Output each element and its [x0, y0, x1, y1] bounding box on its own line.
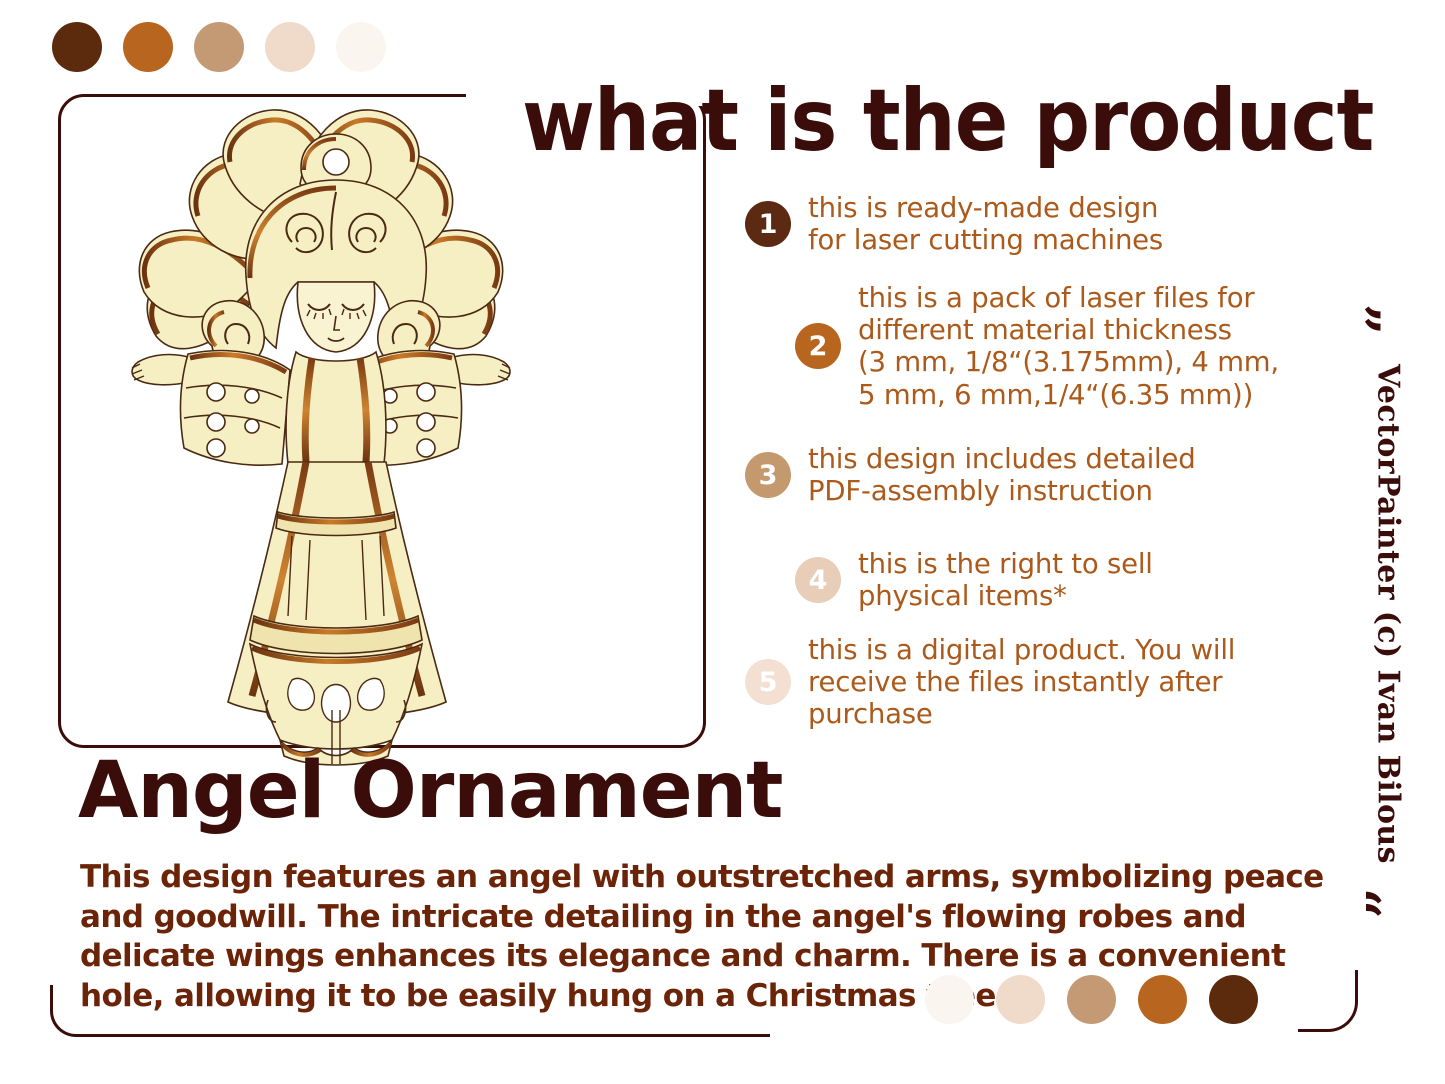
- swatch-top-1: [52, 22, 102, 72]
- feature-text-1: this is ready-made design for laser cutt…: [808, 192, 1163, 256]
- swatch-bottom-1: [925, 975, 974, 1024]
- swatch-bottom-3: [1067, 975, 1116, 1024]
- feature-item-5: 5 this is a digital product. You will re…: [745, 634, 1235, 731]
- feature-item-4: 4 this is the right to sell physical ite…: [795, 548, 1153, 612]
- outer-frame-bottom-left: [50, 985, 770, 1037]
- swatch-bottom-5: [1209, 975, 1258, 1024]
- swatch-bottom-2: [996, 975, 1045, 1024]
- feature-badge-5: 5: [745, 659, 791, 705]
- color-palette-top: [52, 22, 386, 72]
- feature-badge-1: 1: [745, 201, 791, 247]
- feature-text-4: this is the right to sell physical items…: [858, 548, 1153, 612]
- feature-text-2: this is a pack of laser files for differ…: [858, 282, 1279, 411]
- feature-badge-3: 3: [745, 452, 791, 498]
- feature-item-2: 2 this is a pack of laser files for diff…: [795, 282, 1279, 411]
- credit-text: VectorPainter (c) Ivan Bilous: [1371, 364, 1406, 864]
- feature-badge-4: 4: [795, 557, 841, 603]
- swatch-top-3: [194, 22, 244, 72]
- feature-badge-2: 2: [795, 323, 841, 369]
- swatch-bottom-4: [1138, 975, 1187, 1024]
- infographic-page: what is the product 1 this is ready-made…: [0, 0, 1445, 1084]
- swatch-top-4: [265, 22, 315, 72]
- feature-item-3: 3 this design includes detailed PDF-asse…: [745, 443, 1195, 507]
- color-palette-bottom: [925, 975, 1258, 1024]
- swatch-top-5: [336, 22, 386, 72]
- feature-item-1: 1 this is ready-made design for laser cu…: [745, 192, 1163, 256]
- feature-text-5: this is a digital product. You will rece…: [808, 634, 1235, 731]
- outer-frame-bottom-right: [1298, 970, 1358, 1032]
- swatch-top-2: [123, 22, 173, 72]
- page-title: what is the product: [522, 78, 1373, 164]
- quote-open-icon: “: [1369, 303, 1407, 334]
- angel-ornament-image: [96, 96, 546, 768]
- feature-text-3: this design includes detailed PDF-assemb…: [808, 443, 1195, 507]
- product-title: Angel Ornament: [78, 752, 782, 830]
- watermark-credit: “ VectorPainter (c) Ivan Bilous ”: [1358, 300, 1418, 960]
- quote-close-icon: ”: [1369, 887, 1407, 918]
